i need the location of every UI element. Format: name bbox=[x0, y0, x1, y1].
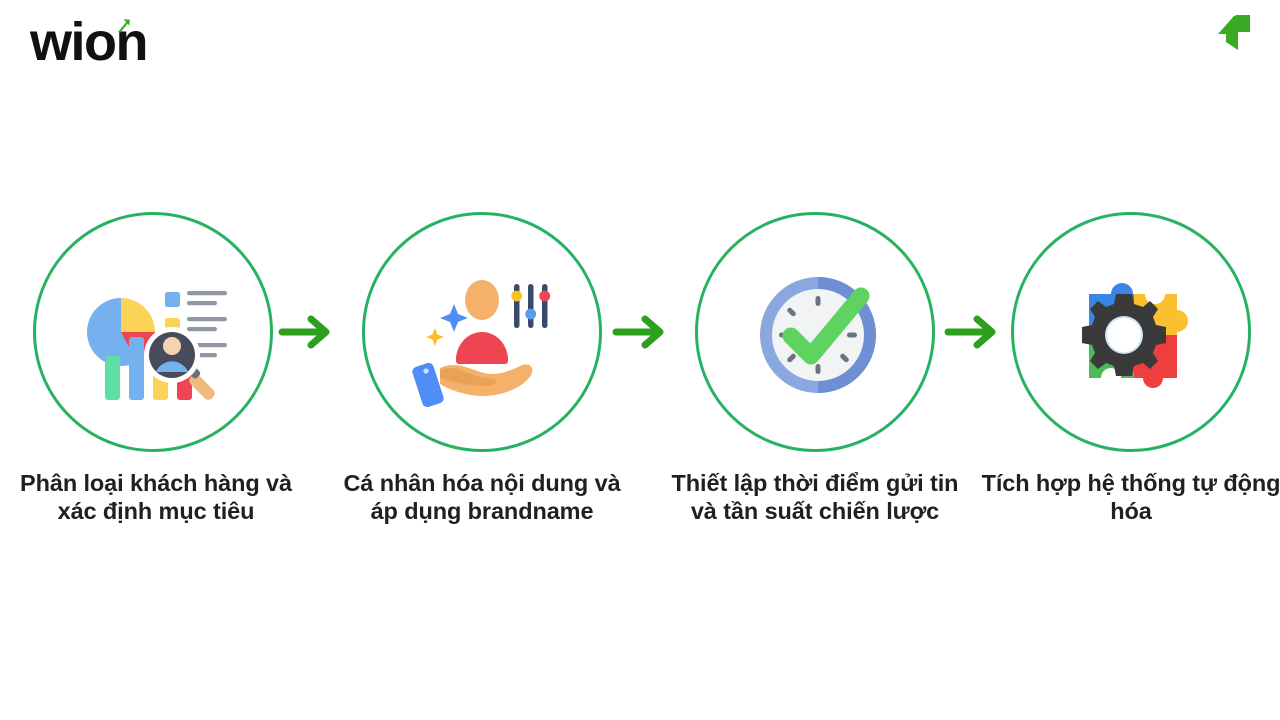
step-caption-2: Cá nhân hóa nội dung và áp dụng brandnam… bbox=[332, 470, 632, 525]
arrow-right-icon-2 bbox=[612, 310, 672, 354]
flow-step-3[interactable] bbox=[695, 212, 941, 458]
process-flow bbox=[0, 212, 1280, 462]
personalization-hand-icon bbox=[410, 260, 560, 410]
step-caption-4: Tích hợp hệ thống tự động hóa bbox=[981, 470, 1280, 525]
gear bbox=[1082, 294, 1166, 376]
puzzle-gear-icon bbox=[1059, 260, 1209, 410]
arrow-right-icon-3 bbox=[944, 310, 1004, 354]
step-caption-1: Phân loại khách hàng và xác định mục tiê… bbox=[6, 470, 306, 525]
clock-check-icon bbox=[743, 260, 893, 410]
green-arrow-accent-icon bbox=[116, 18, 132, 34]
sliders bbox=[511, 284, 550, 328]
sparkles bbox=[426, 304, 468, 346]
flow-step-2[interactable] bbox=[362, 212, 608, 458]
step-caption-3: Thiết lập thời điểm gửi tin và tần suất … bbox=[665, 470, 965, 525]
arrow-right-icon-1 bbox=[278, 310, 338, 354]
flow-step-1[interactable] bbox=[33, 212, 279, 458]
hand bbox=[411, 362, 532, 409]
flow-step-4[interactable] bbox=[1011, 212, 1257, 458]
person bbox=[456, 280, 508, 364]
brand-logo[interactable]: wion bbox=[30, 14, 210, 70]
green-arrow-mark-icon bbox=[1216, 12, 1252, 52]
step-captions: Phân loại khách hàng và xác định mục tiê… bbox=[0, 470, 1280, 590]
analytics-segmentation-icon bbox=[81, 260, 231, 410]
